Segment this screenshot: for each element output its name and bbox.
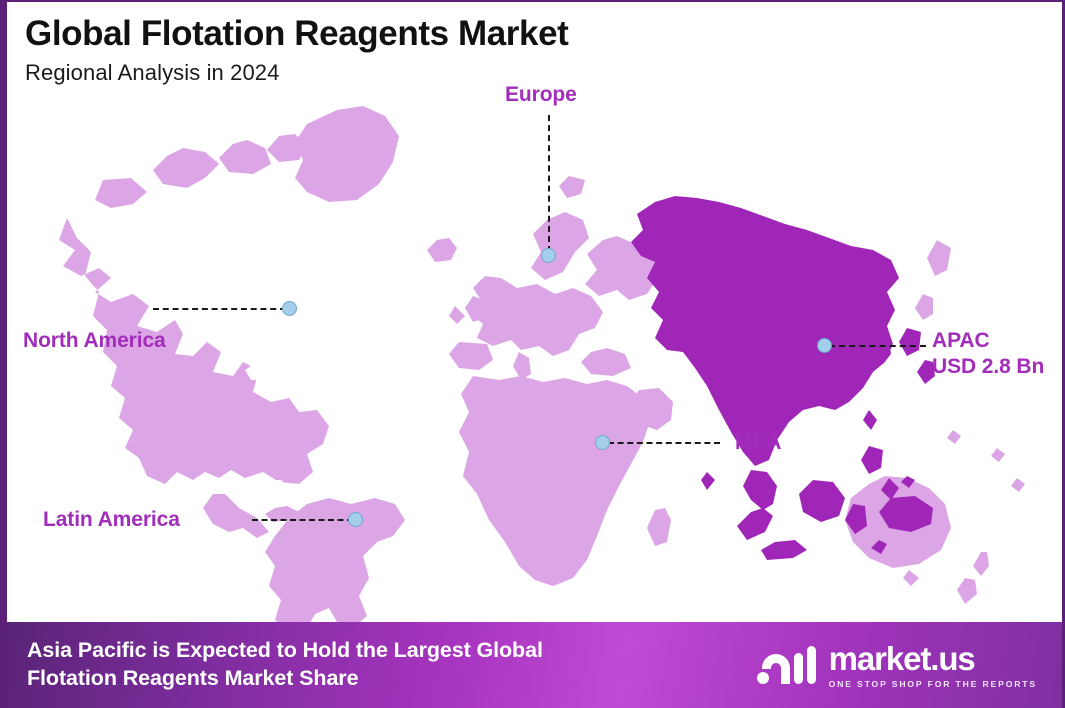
header: Global Flotation Reagents Market Regiona… [25, 16, 568, 86]
region-label-north-america: North America [23, 328, 166, 354]
map-marker-europe[interactable] [541, 248, 556, 263]
region-value-apac: USD 2.8 Bn [932, 354, 1044, 380]
leader-line-apac [829, 345, 926, 347]
world-map-svg [7, 80, 1065, 628]
region-label-europe: Europe [505, 82, 577, 108]
footer-headline: Asia Pacific is Expected to Hold the Lar… [27, 637, 543, 693]
logo-mark-icon [756, 642, 818, 688]
region-name-north-america: North America [23, 329, 166, 352]
footer-banner: Asia Pacific is Expected to Hold the Lar… [7, 622, 1065, 708]
leader-line-europe [548, 115, 550, 252]
logo-text-block: market.us ONE STOP SHOP FOR THE REPORTS [829, 642, 1037, 689]
infographic-root: Global Flotation Reagents Market Regiona… [0, 0, 1065, 708]
footer-headline-line2: Flotation Reagents Market Share [27, 665, 543, 693]
region-label-apac: APAC USD 2.8 Bn [932, 328, 1044, 379]
page-title: Global Flotation Reagents Market [25, 16, 568, 53]
map-marker-apac[interactable] [817, 338, 832, 353]
market-us-logo[interactable]: market.us ONE STOP SHOP FOR THE REPORTS [756, 642, 1047, 689]
region-name-mea: MEA [735, 431, 781, 454]
footer-headline-line1: Asia Pacific is Expected to Hold the Lar… [27, 637, 543, 665]
region-label-mea: MEA [735, 430, 781, 456]
region-name-europe: Europe [505, 83, 577, 106]
leader-line-latin-america [252, 519, 353, 521]
logo-tagline: ONE STOP SHOP FOR THE REPORTS [829, 679, 1037, 689]
page-subtitle: Regional Analysis in 2024 [25, 60, 568, 86]
logo-wordmark: market.us [829, 642, 975, 675]
world-map-container [7, 80, 1065, 628]
leader-line-mea [608, 442, 720, 444]
map-marker-latin-america[interactable] [348, 512, 363, 527]
map-marker-north-america[interactable] [282, 301, 297, 316]
leader-line-north-america [153, 308, 286, 310]
region-label-latin-america: Latin America [43, 507, 180, 533]
region-name-apac: APAC [932, 328, 1044, 354]
map-marker-mea[interactable] [595, 435, 610, 450]
region-name-latin-america: Latin America [43, 508, 180, 531]
